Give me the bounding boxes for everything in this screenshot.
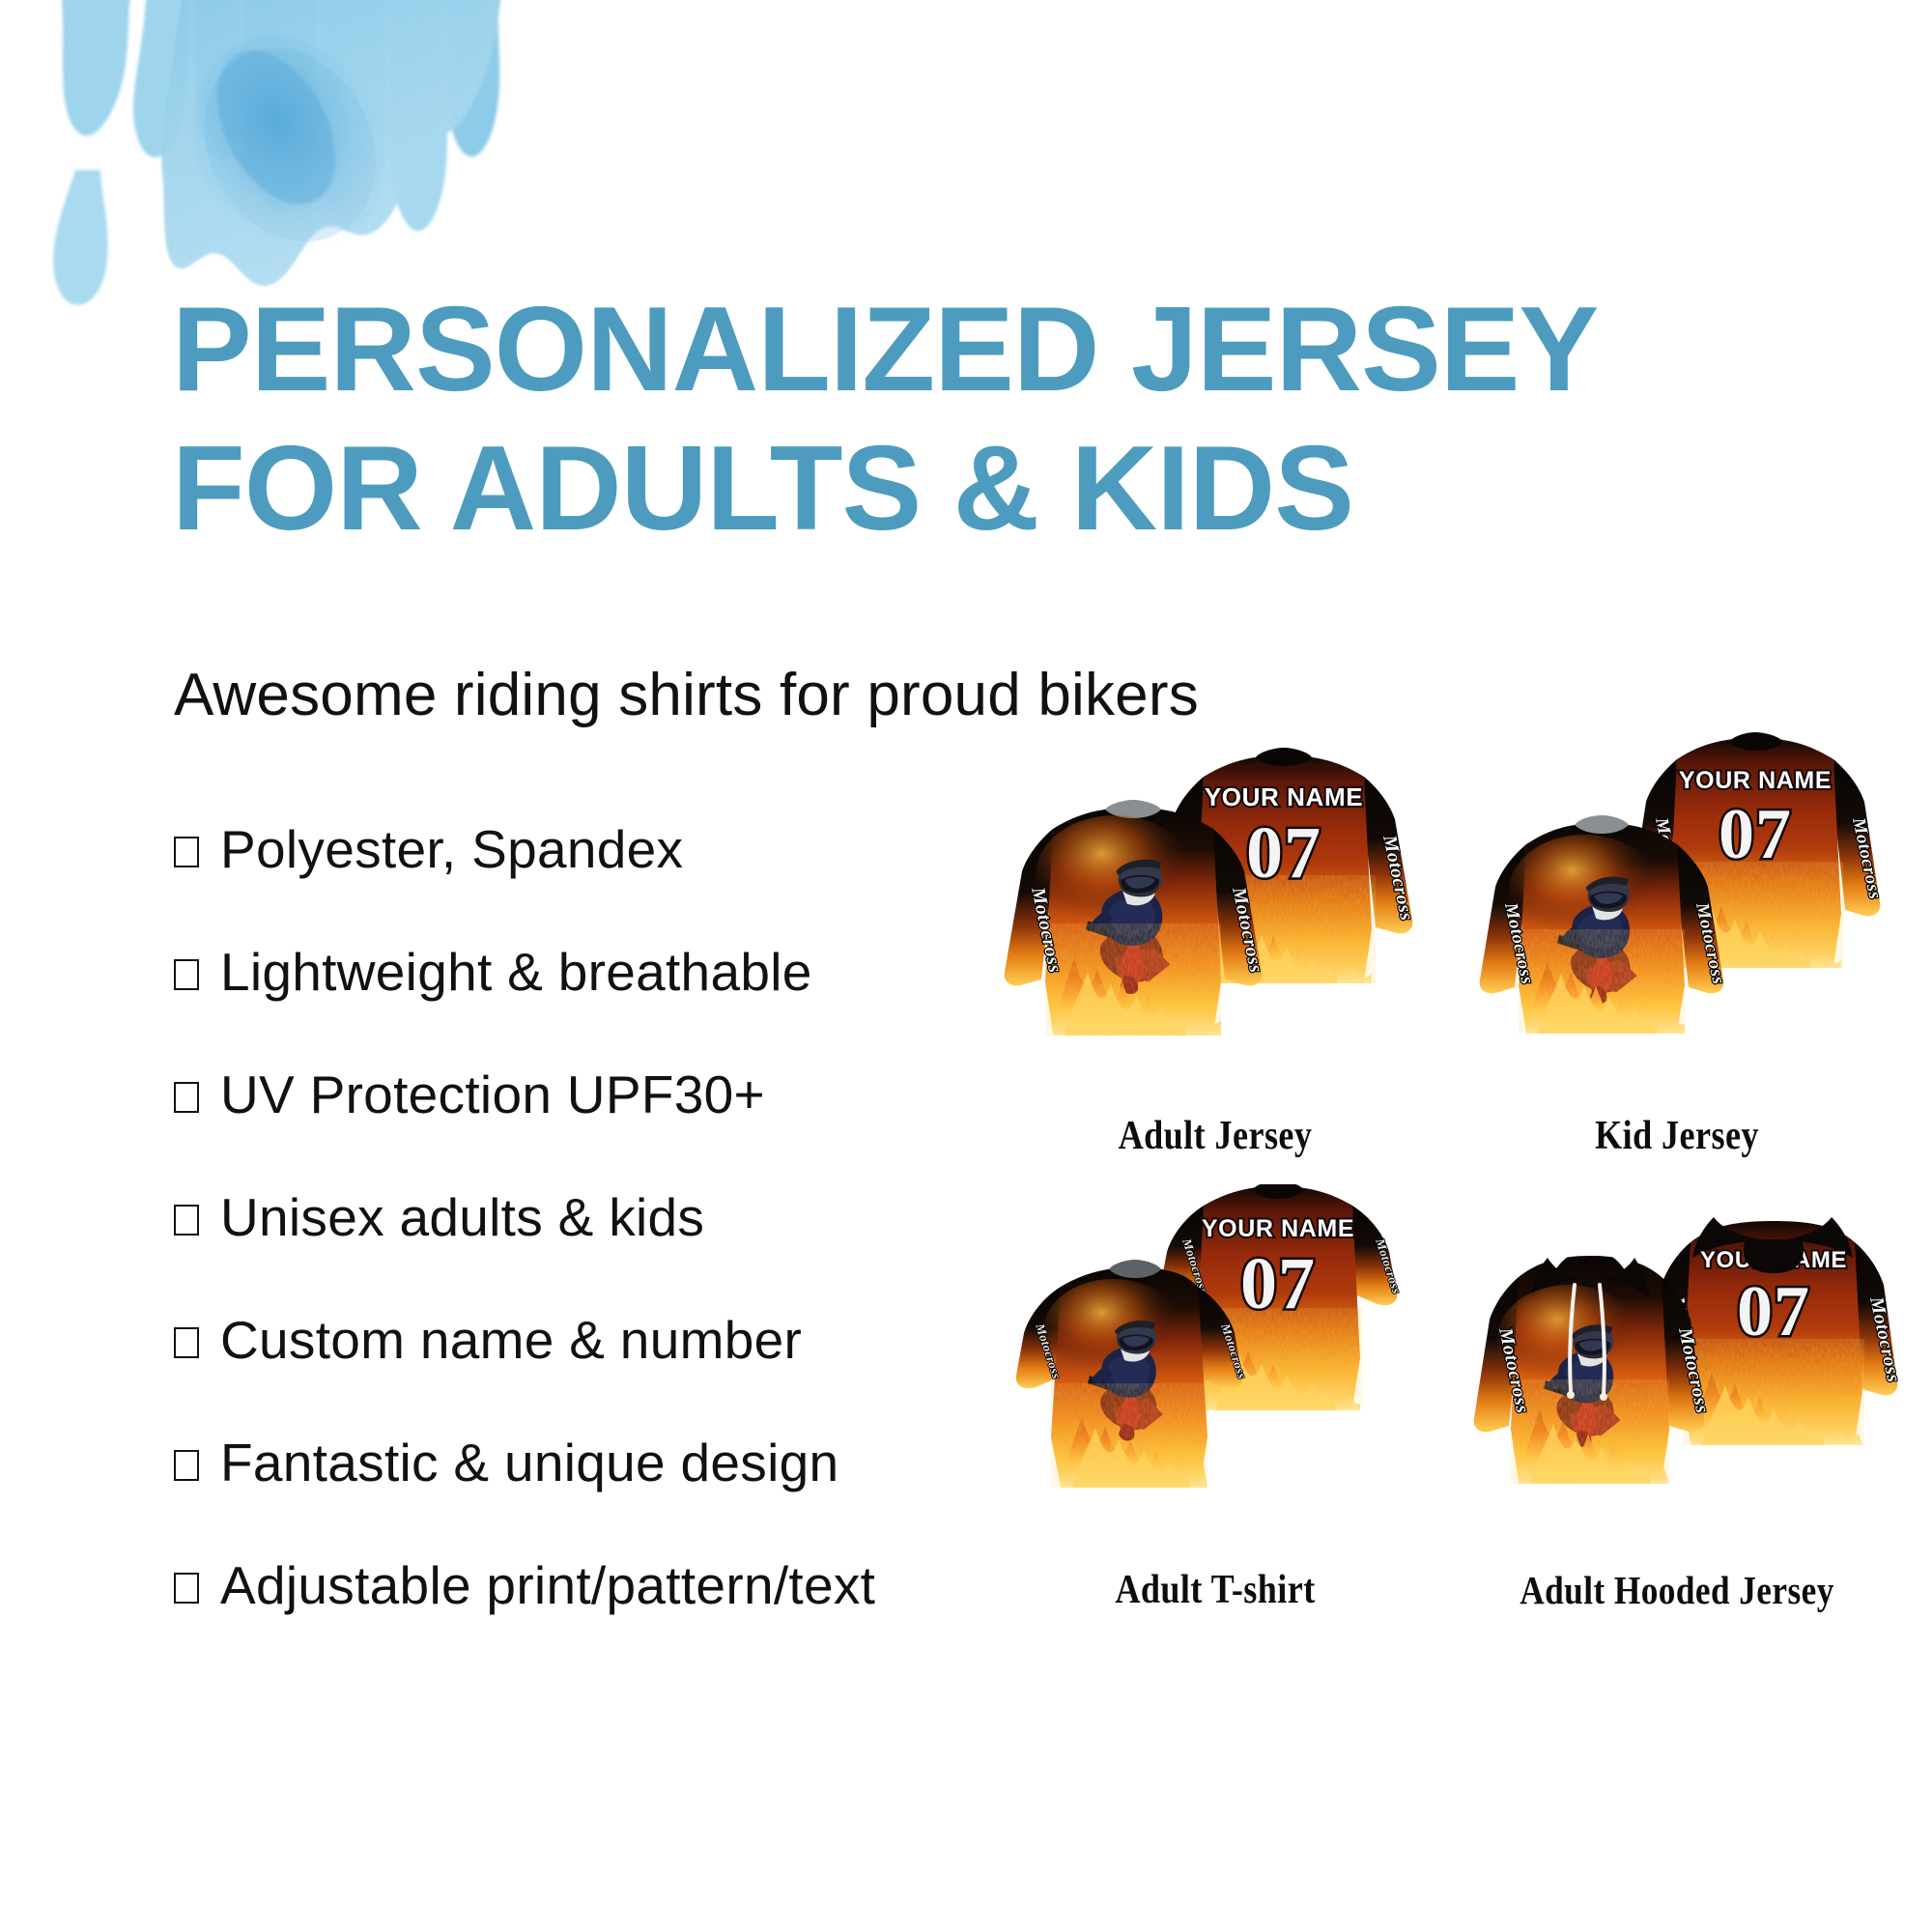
feature-label: Fantastic & unique design <box>220 1436 838 1490</box>
back-number-text: 07 <box>1246 812 1321 894</box>
product-card-adult-tshirt[interactable]: Motocross Motocross YOUR NAME 07 <box>993 1184 1437 1627</box>
product-image-adult-tshirt: Motocross Motocross YOUR NAME 07 <box>993 1184 1437 1569</box>
feature-item-lightweight-breathable: Lightweight & breathable <box>174 946 985 1068</box>
back-number-text: 07 <box>1240 1243 1316 1324</box>
page-subtitle: Awesome riding shirts for proud bikers <box>174 661 1199 729</box>
square-bullet-icon <box>174 1205 199 1236</box>
product-label-kid-jersey: Kid Jersey <box>1486 1113 1868 1159</box>
page-title-line-1: PERSONALIZED JERSEY <box>172 281 1756 420</box>
feature-label: Lightweight & breathable <box>220 946 812 999</box>
product-image-adult-jersey: Motocross Motocross YOUR NAME 07 <box>993 730 1437 1115</box>
feature-item-polyester-spandex: Polyester, Spandex <box>174 823 985 946</box>
product-label-adult-tshirt: Adult T-shirt <box>1024 1567 1406 1613</box>
feature-label: Adjustable print/pattern/text <box>220 1559 875 1612</box>
feature-label: Polyester, Spandex <box>220 823 683 876</box>
feature-item-adjustable-print: Adjustable print/pattern/text <box>174 1559 985 1682</box>
product-card-adult-hooded-jersey[interactable]: Motocross Motocross YOUR NAME 07 <box>1455 1184 1899 1627</box>
feature-label: Unisex adults & kids <box>220 1191 704 1244</box>
back-number-text: 07 <box>1737 1272 1810 1351</box>
product-image-kid-jersey: Motocross Motocross YOUR NAME 07 <box>1455 730 1899 1115</box>
feature-label: Custom name & number <box>220 1314 802 1367</box>
feature-item-custom-name-number: Custom name & number <box>174 1314 985 1436</box>
feature-item-uv-protection: UV Protection UPF30+ <box>174 1068 985 1191</box>
back-name-text: YOUR NAME <box>1679 767 1832 794</box>
square-bullet-icon <box>174 1450 199 1481</box>
square-bullet-icon <box>174 1327 199 1358</box>
product-image-adult-hooded-jersey: Motocross Motocross YOUR NAME 07 <box>1455 1184 1899 1569</box>
back-name-text: YOUR NAME <box>1205 782 1363 811</box>
square-bullet-icon <box>174 1573 199 1604</box>
square-bullet-icon <box>174 959 199 990</box>
feature-list: Polyester, Spandex Lightweight & breatha… <box>174 823 985 1682</box>
product-card-kid-jersey[interactable]: Motocross Motocross YOUR NAME 07 <box>1455 730 1899 1173</box>
feature-item-unisex: Unisex adults & kids <box>174 1191 985 1314</box>
product-label-adult-jersey: Adult Jersey <box>1024 1113 1406 1159</box>
product-label-adult-hooded-jersey: Adult Hooded Jersey <box>1486 1567 1868 1613</box>
page-title-line-2: FOR ADULTS & KIDS <box>172 420 1756 559</box>
back-number-text: 07 <box>1719 795 1792 874</box>
feature-label: UV Protection UPF30+ <box>220 1068 765 1122</box>
back-name-text: YOUR NAME <box>1202 1215 1354 1242</box>
product-card-adult-jersey[interactable]: Motocross Motocross YOUR NAME 07 <box>993 730 1437 1173</box>
page-title: PERSONALIZED JERSEY FOR ADULTS & KIDS <box>172 281 1756 559</box>
square-bullet-icon <box>174 837 199 867</box>
square-bullet-icon <box>174 1082 199 1113</box>
feature-item-unique-design: Fantastic & unique design <box>174 1436 985 1559</box>
product-gallery: Motocross Motocross YOUR NAME 07 <box>993 730 1905 1638</box>
